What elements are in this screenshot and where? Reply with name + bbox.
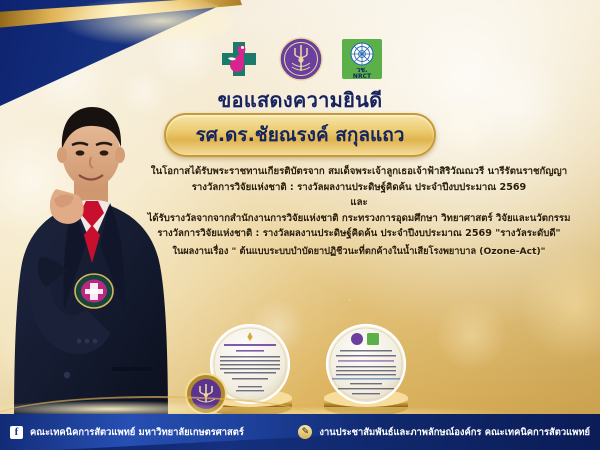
award-plaque-right xyxy=(324,325,408,416)
footer-bar: f คณะเทคนิคการสัตวแพทย์ มหาวิทยาลัยเกษตร… xyxy=(0,414,600,450)
kasetsart-university-seal xyxy=(278,36,324,82)
vet-tech-cross-logo xyxy=(216,36,262,82)
credit-label: งานประชาสัมพันธ์และภาพลักษณ์องค์กร คณะเท… xyxy=(319,425,590,440)
bokeh-light xyxy=(436,300,506,370)
nrct-logo: วช. NRCT xyxy=(340,37,384,81)
logo-row: วช. NRCT xyxy=(0,36,600,82)
facebook-icon[interactable]: f xyxy=(10,426,23,439)
congratulation-banner: วช. NRCT ขอแสดงความยินดี รศ.ดร.ชัยณรงค์ … xyxy=(0,0,600,450)
honoree-name-label: รศ.ดร.ชัยณรงค์ สกุลแถว xyxy=(164,113,437,157)
honoree-portrait xyxy=(0,95,194,425)
bokeh-light xyxy=(520,250,600,360)
facebook-page-label[interactable]: คณะเทคนิคการสัตวแพทย์ มหาวิทยาลัยเกษตรศา… xyxy=(30,425,244,440)
svg-text:NRCT: NRCT xyxy=(353,73,372,80)
pencil-icon: ✎ xyxy=(298,425,312,439)
